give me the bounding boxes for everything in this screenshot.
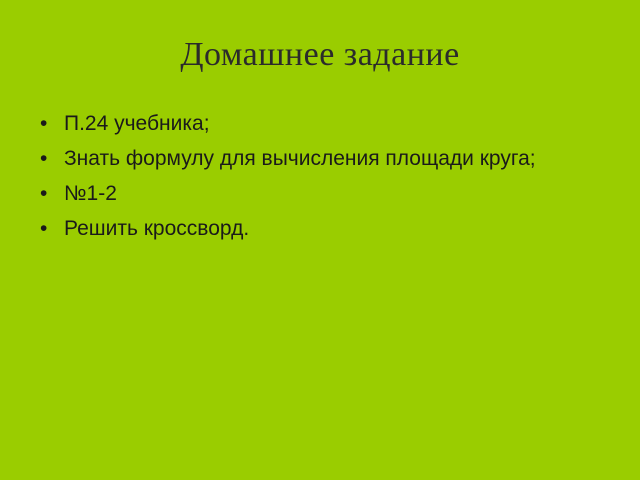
list-item: • Решить кроссворд. [28, 215, 588, 243]
bullet-dot-icon: • [40, 180, 47, 208]
bullet-list: • П.24 учебника; • Знать формулу для выч… [28, 110, 588, 250]
list-item-text: №1-2 [64, 180, 588, 208]
list-item: • Знать формулу для вычисления площади к… [28, 145, 588, 173]
list-item: • №1-2 [28, 180, 588, 208]
list-item-text: Знать формулу для вычисления площади кру… [64, 145, 588, 173]
list-item: • П.24 учебника; [28, 110, 588, 138]
bullet-dot-icon: • [40, 110, 47, 138]
bullet-dot-icon: • [40, 215, 47, 243]
list-item-text: П.24 учебника; [64, 110, 588, 138]
bullet-dot-icon: • [40, 145, 47, 173]
page-title: Домашнее задание [0, 36, 640, 74]
slide-canvas: Домашнее задание • П.24 учебника; • Знат… [0, 0, 640, 480]
list-item-text: Решить кроссворд. [64, 215, 588, 243]
